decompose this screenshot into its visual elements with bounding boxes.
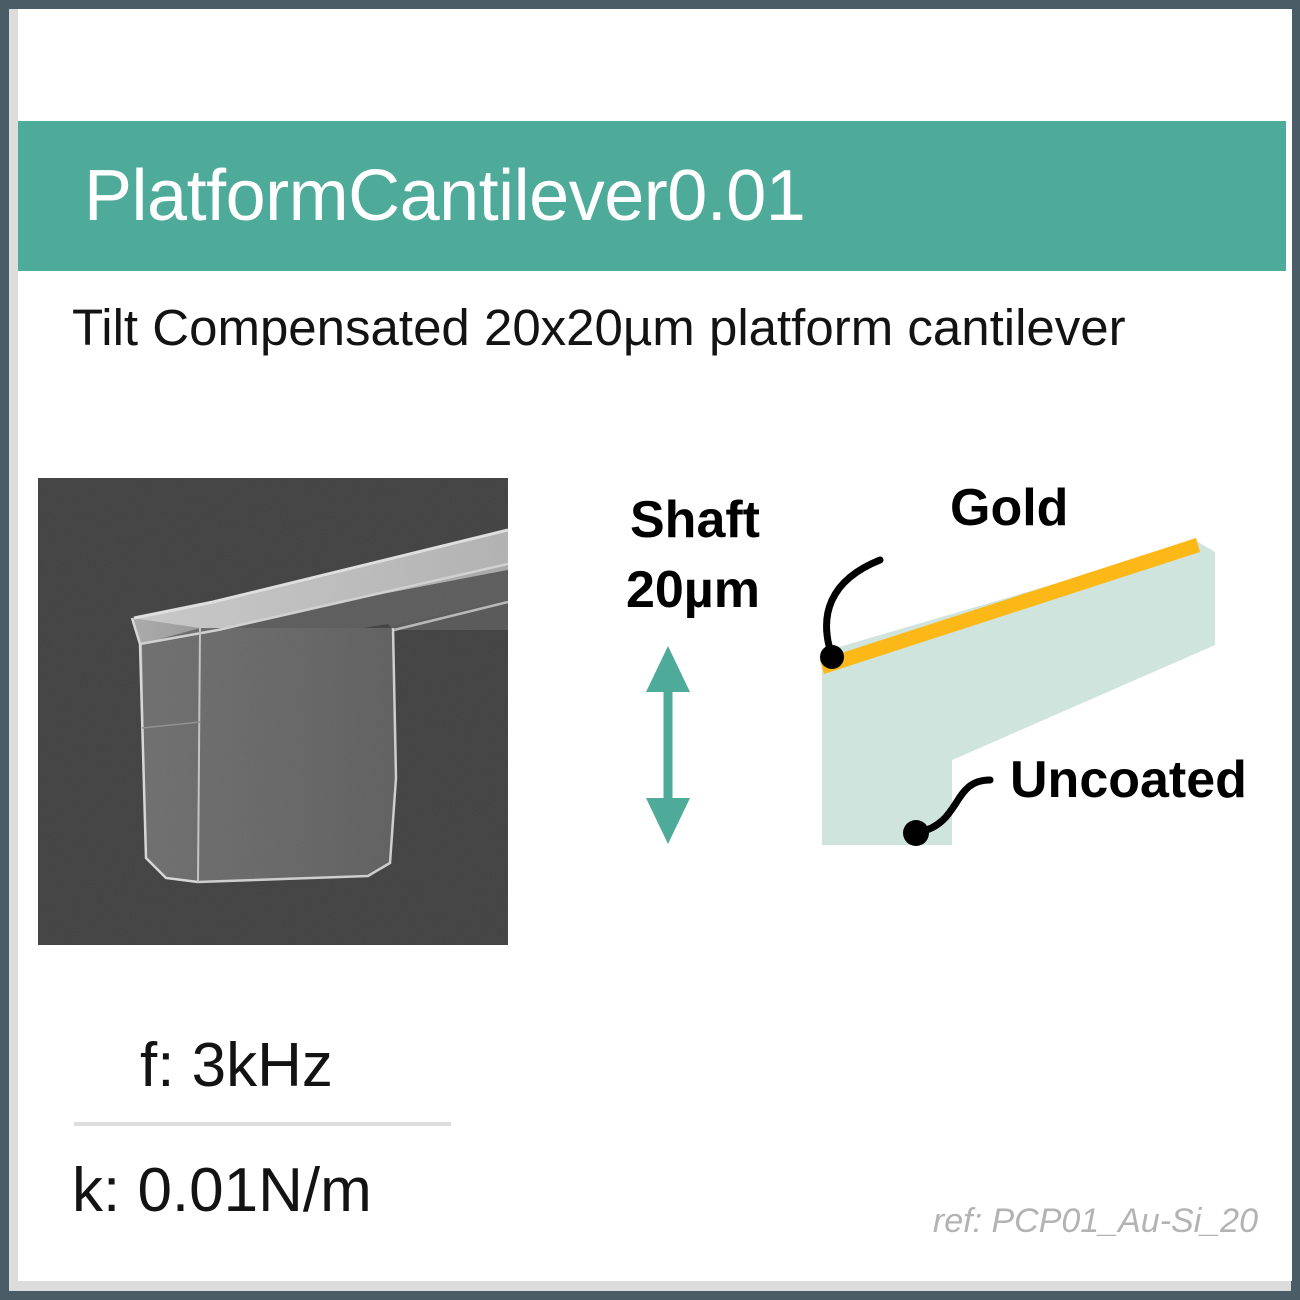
schematic-graphic xyxy=(580,460,1280,880)
cantilever-schematic: Gold Uncoated xyxy=(580,460,1280,880)
sem-image-graphic xyxy=(38,478,508,945)
page-title: PlatformCantilever0.01 xyxy=(84,160,805,232)
card-subtitle: Tilt Compensated 20x20µm platform cantil… xyxy=(72,297,1126,358)
reference-code: ref: PCP01_Au-Si_20 xyxy=(933,1202,1258,1241)
sem-micrograph xyxy=(38,478,508,945)
spec-divider xyxy=(74,1122,451,1126)
spec-stiffness: k: 0.01N/m xyxy=(72,1155,372,1226)
product-card-page: PlatformCantilever0.01 Tilt Compensated … xyxy=(0,0,1300,1300)
title-bar: PlatformCantilever0.01 xyxy=(18,121,1286,271)
uncoated-label: Uncoated xyxy=(1010,750,1247,810)
gold-label: Gold xyxy=(950,478,1068,538)
spec-frequency: f: 3kHz xyxy=(140,1030,333,1101)
silicon-leg-shape xyxy=(822,652,952,845)
dimension-arrow-icon xyxy=(646,646,690,844)
